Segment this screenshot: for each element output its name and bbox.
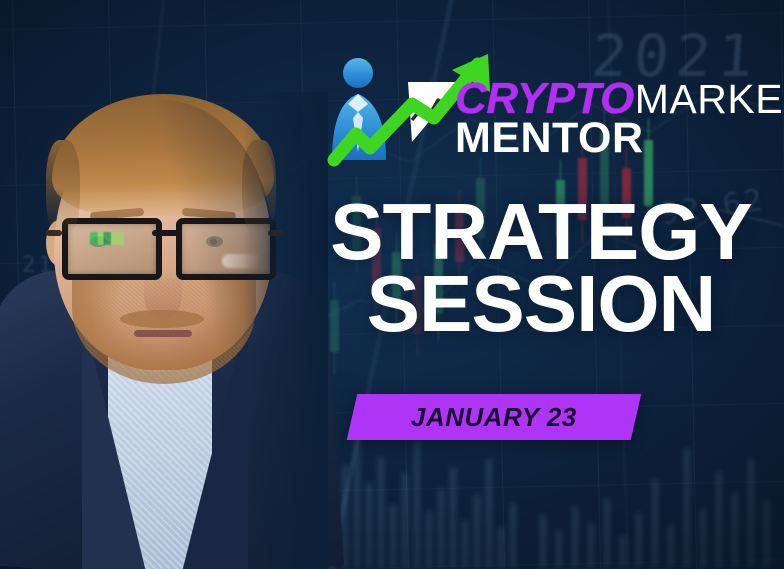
date-label: JANUARY 23 [411, 402, 577, 433]
headline-line-2: SESSION [306, 268, 776, 340]
brand-logo[interactable]: CRYPTO MARKET MENTOR [312, 48, 782, 168]
date-banner[interactable]: JANUARY 23 [347, 394, 642, 440]
headline: STRATEGY SESSION [306, 196, 776, 340]
wordmark-market: MARKET [635, 80, 784, 119]
promo-graphic: 2021 92.62 21. [0, 0, 784, 569]
wordmark-mentor: MENTOR [455, 117, 784, 160]
wordmark-crypto: CRYPTO [455, 78, 634, 119]
headline-line-1: STRATEGY [306, 196, 776, 268]
brand-wordmark: CRYPTO MARKET MENTOR [455, 78, 784, 160]
host-portrait [0, 92, 324, 569]
